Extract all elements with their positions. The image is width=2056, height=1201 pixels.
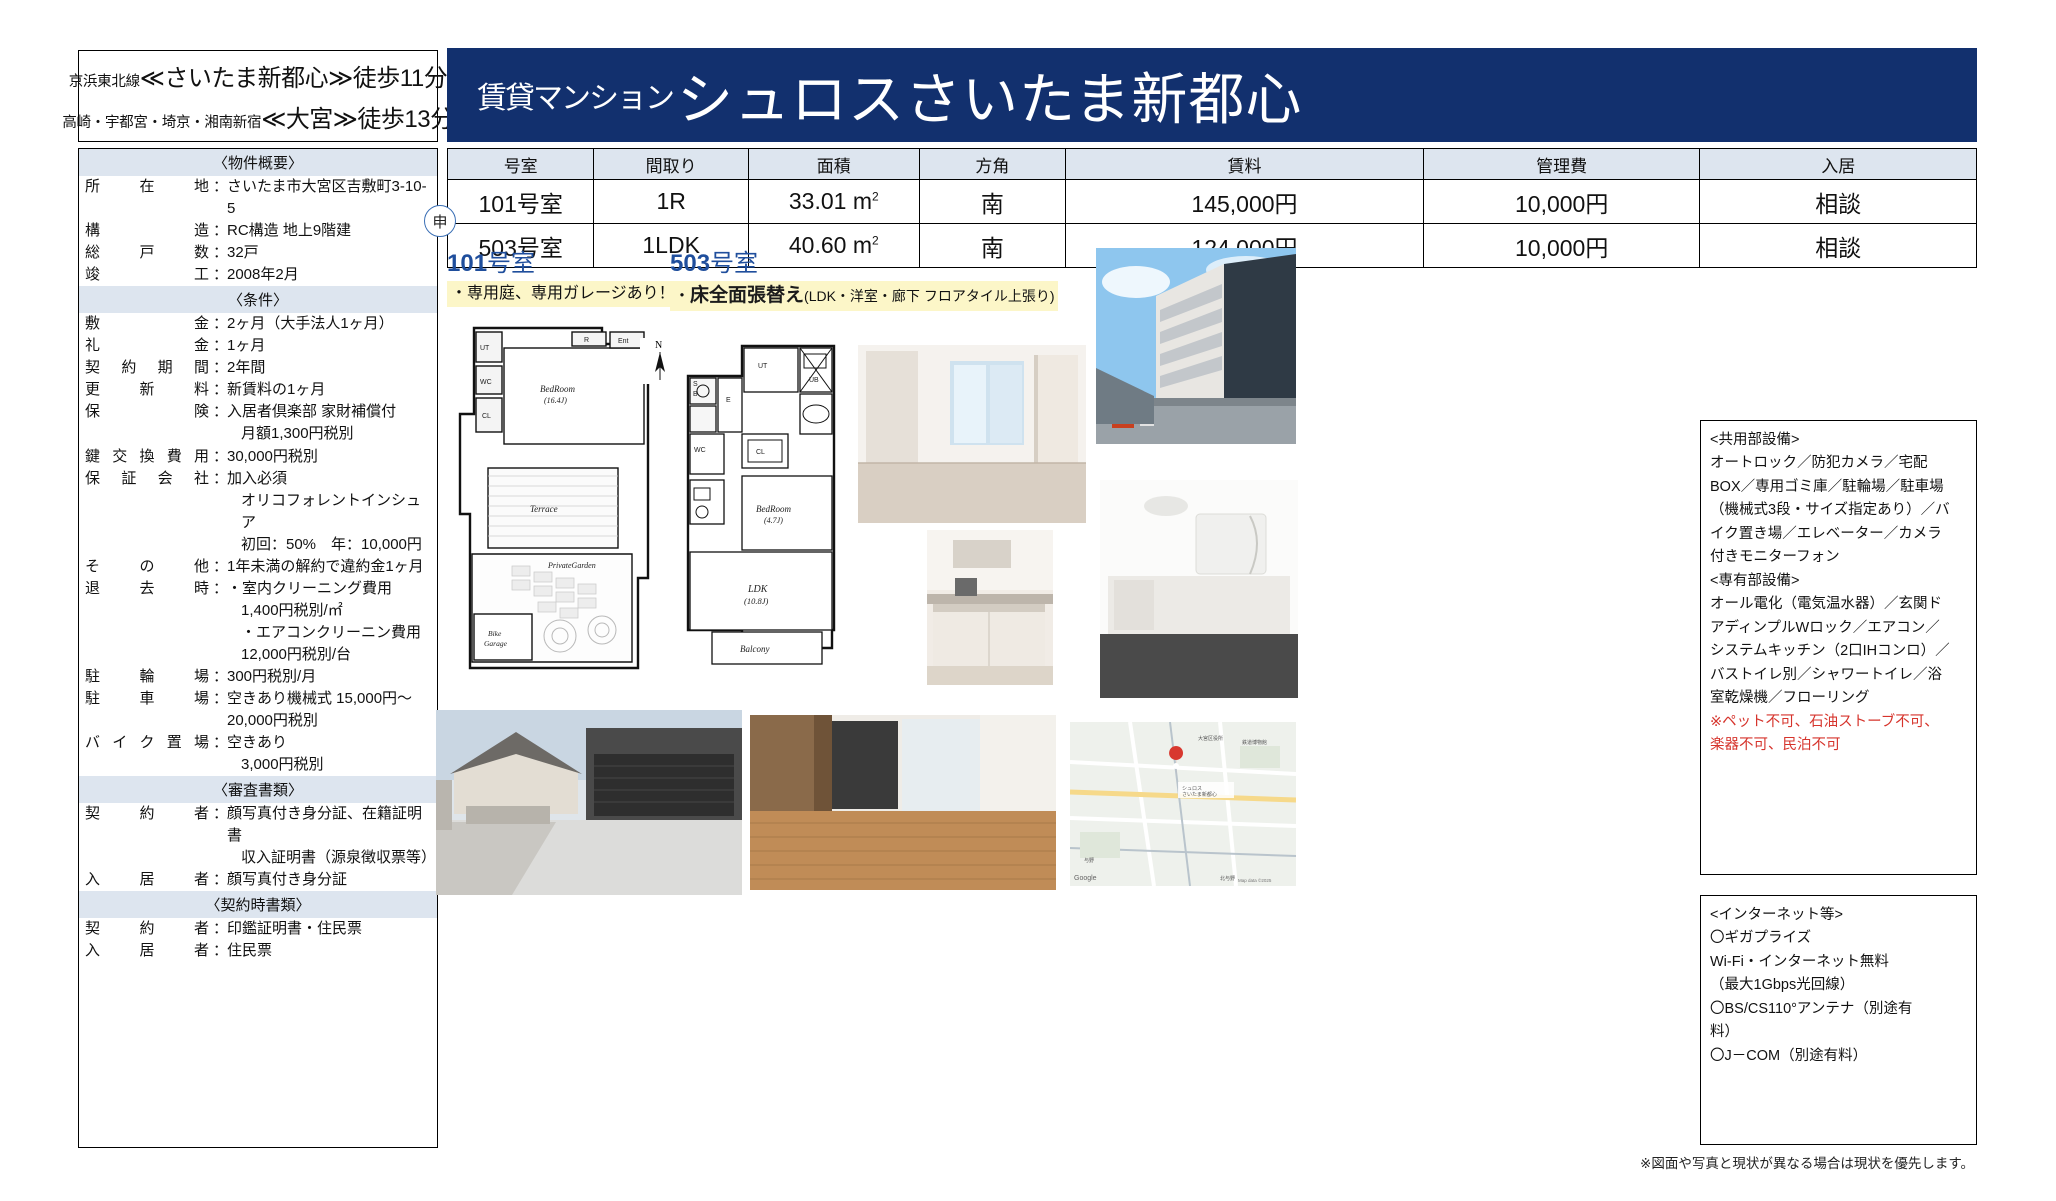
screening-label: 契約者 bbox=[85, 803, 213, 847]
table-header-3: 方角 bbox=[919, 149, 1065, 180]
svg-text:鉄道博物館: 鉄道博物館 bbox=[1242, 739, 1267, 746]
common-equipment-line: 付きモニターフォン bbox=[1710, 546, 1967, 569]
condition-colon: ： bbox=[213, 313, 227, 335]
overview-value: さいたま市大宮区吉敷町3-10-5 bbox=[227, 176, 431, 220]
callout-101-note: ・専用庭、専用ガレージあり！ bbox=[447, 281, 679, 307]
screening-value: 顔写真付き身分証 bbox=[227, 869, 431, 891]
condition-row: 駐車場：空きあり機械式 15,000円〜20,000円税別 bbox=[79, 688, 437, 732]
callout-101: 101号室 ・専用庭、専用ガレージあり！ bbox=[447, 243, 679, 307]
condition-colon: ： bbox=[213, 335, 227, 357]
overview-colon: ： bbox=[213, 242, 227, 264]
condition-value: ・エアコンクリーニン費用 bbox=[227, 622, 431, 644]
condition-label: 保険 bbox=[85, 401, 213, 423]
screening-colon: ： bbox=[213, 869, 227, 891]
restriction-line: ※ペット不可、石油ストーブ不可、 bbox=[1710, 711, 1967, 734]
condition-value: 2年間 bbox=[227, 357, 431, 379]
internet-line: 〇BS/CS110°アンテナ（別途有 bbox=[1710, 998, 1967, 1021]
compass-rose-icon: N bbox=[640, 338, 680, 384]
condition-row: 礼金：1ヶ月 bbox=[79, 335, 437, 357]
private-equipment-line: システムキッチン（2口IHコンロ）／ bbox=[1710, 640, 1967, 663]
table-header-5: 管理費 bbox=[1423, 149, 1700, 180]
condition-row: ：初回：50% 年：10,000円 bbox=[79, 534, 437, 556]
callout-503-title: 503号室 bbox=[670, 243, 1058, 278]
contract-doc-colon: ： bbox=[213, 918, 227, 940]
condition-label: 契約期間 bbox=[85, 357, 213, 379]
condition-label: 鍵交換費用 bbox=[85, 446, 213, 468]
photo-garage-exterior bbox=[436, 710, 742, 895]
flyer-page: 京浜東北線 ≪さいたま新都心≫徒歩11分 高崎・宇都宮・埼京・湘南新宿 ≪大宮≫… bbox=[0, 0, 2056, 1201]
condition-row: 更新料：新賃料の1ヶ月 bbox=[79, 379, 437, 401]
contract-doc-row: 入居者：住民票 bbox=[79, 940, 437, 962]
svg-text:Terrace: Terrace bbox=[530, 504, 558, 514]
svg-text:CL: CL bbox=[756, 449, 765, 456]
contract-doc-label: 契約者 bbox=[85, 918, 213, 940]
access-line-1-station: ≪さいたま新都心≫徒歩11分 bbox=[140, 58, 447, 93]
condition-label: 敷金 bbox=[85, 313, 213, 335]
private-equipment-line: アディンプルWロック／エアコン／ bbox=[1710, 617, 1967, 640]
cell-direction: 南 bbox=[919, 180, 1065, 224]
internet-line: （最大1Gbps光回線） bbox=[1710, 974, 1967, 997]
svg-text:WC: WC bbox=[480, 379, 492, 386]
application-flag-badge: 申 bbox=[424, 205, 456, 237]
internet-lines: 〇ギガプライズWi-Fi・インターネット無料（最大1Gbps光回線）〇BS/CS… bbox=[1710, 927, 1967, 1068]
condition-colon: ： bbox=[213, 666, 227, 688]
callout-503-number: 503 bbox=[670, 250, 710, 277]
condition-value: 空きあり bbox=[227, 732, 431, 754]
callout-503-suffix: 号室 bbox=[710, 250, 758, 277]
photo-building-exterior bbox=[1096, 248, 1296, 444]
condition-value: 月額1,300円税別 bbox=[227, 423, 431, 445]
condition-row: その他：1年未満の解約で違約金1ヶ月 bbox=[79, 556, 437, 578]
contract-doc-label: 入居者 bbox=[85, 940, 213, 962]
internet-line: 料） bbox=[1710, 1021, 1967, 1044]
table-header-2: 面積 bbox=[748, 149, 919, 180]
condition-label: 保証会社 bbox=[85, 468, 213, 490]
overview-value: RC構造 地上9階建 bbox=[227, 220, 431, 242]
condition-value: 加入必須 bbox=[227, 468, 431, 490]
condition-value: 初回：50% 年：10,000円 bbox=[227, 534, 431, 556]
callout-101-title: 101号室 bbox=[447, 243, 679, 278]
contract-doc-colon: ： bbox=[213, 940, 227, 962]
screening-label: 入居者 bbox=[85, 869, 213, 891]
table-header-row: 号室間取り面積方角賃料管理費入居 bbox=[448, 149, 1977, 180]
location-map[interactable]: 大宮区役所 鉄道博物館 シュロス さいたま新都心 与野 北与野 Google M… bbox=[1070, 722, 1296, 886]
svg-text:R: R bbox=[584, 337, 589, 344]
title-prefix: 賃貸マンション bbox=[477, 73, 673, 117]
screening-row: 入居者：顔写真付き身分証 bbox=[79, 869, 437, 891]
condition-row: 契約期間：2年間 bbox=[79, 357, 437, 379]
callout-503: 503号室 ・床全面張替え(LDK・洋室・廊下 フロアタイル上張り) bbox=[670, 243, 1058, 311]
condition-value: 12,000円税別/台 bbox=[227, 644, 431, 666]
common-equipment-line: BOX／専用ゴミ庫／駐輪場／駐車場 bbox=[1710, 476, 1967, 499]
svg-text:Garage: Garage bbox=[484, 639, 508, 648]
svg-text:大宮区役所: 大宮区役所 bbox=[1198, 735, 1223, 742]
private-equipment-heading: <専有部設備> bbox=[1710, 570, 1967, 593]
access-line-1: 京浜東北線 ≪さいたま新都心≫徒歩11分 bbox=[91, 58, 425, 93]
cell-layout: 1R bbox=[594, 180, 749, 224]
internet-line: Wi-Fi・インターネット無料 bbox=[1710, 951, 1967, 974]
condition-row: ：月額1,300円税別 bbox=[79, 423, 437, 445]
condition-label: バイク置場 bbox=[85, 732, 213, 754]
cell-area: 33.01 m2 bbox=[748, 180, 919, 224]
condition-colon: ： bbox=[213, 379, 227, 401]
condition-value: 空きあり機械式 15,000円〜20,000円税別 bbox=[227, 688, 431, 732]
condition-value: 3,000円税別 bbox=[227, 754, 431, 776]
condition-colon: ： bbox=[213, 357, 227, 379]
overview-rows: 所在地：さいたま市大宮区吉敷町3-10-5構造：RC構造 地上9階建総戸数：32… bbox=[79, 176, 437, 286]
svg-text:BedRoom: BedRoom bbox=[756, 504, 791, 514]
callout-503-note-small: (LDK・洋室・廊下 フロアタイル上張り) bbox=[804, 288, 1054, 304]
contract-docs-heading: 〈契約時書類〉 bbox=[79, 891, 437, 918]
equipment-info-box: <共用部設備> オートロック／防犯カメラ／宅配BOX／専用ゴミ庫／駐輪場／駐車場… bbox=[1700, 420, 1977, 875]
internet-heading: <インターネット等> bbox=[1710, 904, 1967, 927]
condition-colon: ： bbox=[213, 688, 227, 732]
overview-value: 2008年2月 bbox=[227, 264, 431, 286]
condition-label: 更新料 bbox=[85, 379, 213, 401]
callout-503-note: ・床全面張替え(LDK・洋室・廊下 フロアタイル上張り) bbox=[670, 281, 1058, 311]
screening-row: ：収入証明書（源泉徴収票等） bbox=[79, 847, 437, 869]
condition-row: 退去時：・室内クリーニング費用 bbox=[79, 578, 437, 600]
photo-kitchen bbox=[927, 530, 1053, 685]
condition-row: ：1,400円税別/㎡ bbox=[79, 600, 437, 622]
screening-row: 契約者：顔写真付き身分証、在籍証明書 bbox=[79, 803, 437, 847]
condition-label: 退去時 bbox=[85, 578, 213, 600]
overview-label: 竣工 bbox=[85, 264, 213, 286]
contract-docs-rows: 契約者：印鑑証明書・住民票入居者：住民票 bbox=[79, 918, 437, 962]
table-row[interactable]: 101号室1R33.01 m2南145,000円10,000円相談 bbox=[448, 180, 1977, 224]
cell-rent: 145,000円 bbox=[1066, 180, 1424, 224]
condition-row: 鍵交換費用：30,000円税別 bbox=[79, 446, 437, 468]
common-equipment-lines: オートロック／防犯カメラ／宅配BOX／専用ゴミ庫／駐輪場／駐車場（機械式3段・サ… bbox=[1710, 452, 1967, 569]
condition-value: オリコフォレントインシュア bbox=[227, 490, 431, 534]
conditions-heading: 〈条件〉 bbox=[79, 286, 437, 313]
common-equipment-heading: <共用部設備> bbox=[1710, 429, 1967, 452]
overview-colon: ： bbox=[213, 176, 227, 220]
overview-label: 総戸数 bbox=[85, 242, 213, 264]
overview-colon: ： bbox=[213, 264, 227, 286]
svg-text:UT: UT bbox=[758, 363, 768, 370]
svg-text:E: E bbox=[726, 397, 731, 404]
title-main: シュロスさいたま新都心 bbox=[677, 55, 1302, 136]
overview-row: 所在地：さいたま市大宮区吉敷町3-10-5 bbox=[79, 176, 437, 220]
photo-living-wood-floor bbox=[750, 715, 1056, 890]
internet-line: 〇J－COM（別途有料） bbox=[1710, 1045, 1967, 1068]
condition-label: 礼金 bbox=[85, 335, 213, 357]
condition-row: 敷金：2ヶ月（大手法人1ヶ月） bbox=[79, 313, 437, 335]
overview-row: 構造：RC構造 地上9階建 bbox=[79, 220, 437, 242]
cell-room: 101号室 bbox=[448, 180, 594, 224]
common-equipment-line: イク置き場／エレベーター／カメラ bbox=[1710, 523, 1967, 546]
private-equipment-lines: オール電化（電気温水器）／玄関ドアディンプルWロック／エアコン／システムキッチン… bbox=[1710, 593, 1967, 710]
contract-doc-value: 印鑑証明書・住民票 bbox=[227, 918, 431, 940]
svg-text:(4.7J): (4.7J) bbox=[764, 516, 783, 525]
condition-value: ・室内クリーニング費用 bbox=[227, 578, 431, 600]
screening-heading: 〈審査書類〉 bbox=[79, 776, 437, 803]
condition-colon: ： bbox=[213, 732, 227, 754]
cell-move_in: 相談 bbox=[1700, 224, 1977, 268]
svg-text:UT: UT bbox=[480, 345, 490, 352]
overview-row: 総戸数：32戸 bbox=[79, 242, 437, 264]
internet-info-box: <インターネット等> 〇ギガプライズWi-Fi・インターネット無料（最大1Gbp… bbox=[1700, 895, 1977, 1145]
condition-colon: ： bbox=[213, 578, 227, 600]
condition-value: 1,400円税別/㎡ bbox=[227, 600, 431, 622]
condition-value: 新賃料の1ヶ月 bbox=[227, 379, 431, 401]
callout-101-suffix: 号室 bbox=[487, 250, 535, 277]
access-line-1-railway: 京浜東北線 bbox=[69, 70, 140, 91]
contract-doc-value: 住民票 bbox=[227, 940, 431, 962]
condition-row: 駐輪場：300円税別/月 bbox=[79, 666, 437, 688]
svg-text:LDK: LDK bbox=[747, 584, 769, 595]
table-header-6: 入居 bbox=[1700, 149, 1977, 180]
overview-label: 所在地 bbox=[85, 176, 213, 220]
condition-row: 保証会社：加入必須 bbox=[79, 468, 437, 490]
table-header-0: 号室 bbox=[448, 149, 594, 180]
svg-text:B: B bbox=[693, 391, 698, 398]
screening-value: 収入証明書（源泉徴収票等） bbox=[227, 847, 431, 869]
overview-label: 構造 bbox=[85, 220, 213, 242]
overview-heading: 〈物件概要〉 bbox=[79, 149, 437, 176]
svg-text:与野: 与野 bbox=[1084, 857, 1094, 864]
svg-text:BedRoom: BedRoom bbox=[540, 384, 575, 394]
table-header-4: 賃料 bbox=[1066, 149, 1424, 180]
access-info-box: 京浜東北線 ≪さいたま新都心≫徒歩11分 高崎・宇都宮・埼京・湘南新宿 ≪大宮≫… bbox=[78, 50, 438, 142]
condition-colon: ： bbox=[213, 446, 227, 468]
photo-living-room bbox=[858, 345, 1086, 523]
condition-value: 1年未満の解約で違約金1ヶ月 bbox=[227, 556, 431, 578]
private-equipment-line: オール電化（電気温水器）／玄関ド bbox=[1710, 593, 1967, 616]
common-equipment-line: オートロック／防犯カメラ／宅配 bbox=[1710, 452, 1967, 475]
screening-colon: ： bbox=[213, 803, 227, 847]
svg-text:S: S bbox=[693, 381, 698, 388]
conditions-rows: 敷金：2ヶ月（大手法人1ヶ月）礼金：1ヶ月契約期間：2年間更新料：新賃料の1ヶ月… bbox=[79, 313, 437, 776]
property-title-band: 賃貸マンション シュロスさいたま新都心 bbox=[447, 48, 1977, 142]
condition-value: 300円税別/月 bbox=[227, 666, 431, 688]
private-equipment-line: 室乾燥機／フローリング bbox=[1710, 687, 1967, 710]
svg-text:WC: WC bbox=[694, 447, 706, 454]
condition-value: 30,000円税別 bbox=[227, 446, 431, 468]
svg-text:(10.8J): (10.8J) bbox=[744, 596, 768, 606]
restriction-line: 楽器不可、民泊不可 bbox=[1710, 734, 1967, 757]
condition-row: ：オリコフォレントインシュア bbox=[79, 490, 437, 534]
condition-colon: ： bbox=[213, 401, 227, 423]
access-line-2-railway: 高崎・宇都宮・埼京・湘南新宿 bbox=[62, 111, 261, 132]
callout-503-prefix: ・ bbox=[674, 288, 690, 305]
svg-text:CL: CL bbox=[482, 413, 491, 420]
common-equipment-line: （機械式3段・サイズ指定あり）／バ bbox=[1710, 499, 1967, 522]
access-line-2: 高崎・宇都宮・埼京・湘南新宿 ≪大宮≫徒歩13分 bbox=[91, 99, 425, 134]
callout-101-number: 101 bbox=[447, 250, 487, 277]
svg-text:Ent: Ent bbox=[618, 338, 629, 345]
disclaimer-footnote: ※図面や写真と現状が異なる場合は現状を優先します。 bbox=[1640, 1152, 1974, 1172]
property-details-panel: 〈物件概要〉 所在地：さいたま市大宮区吉敷町3-10-5構造：RC構造 地上9階… bbox=[78, 148, 438, 1148]
svg-text:Balcony: Balcony bbox=[740, 644, 770, 654]
private-equipment-line: バストイレ別／シャワートイレ／浴 bbox=[1710, 664, 1967, 687]
condition-row: バイク置場：空きあり bbox=[79, 732, 437, 754]
condition-label: 駐車場 bbox=[85, 688, 213, 732]
condition-row: ：12,000円税別/台 bbox=[79, 644, 437, 666]
photo-bathroom bbox=[1100, 480, 1298, 698]
svg-text:Map data ©2025: Map data ©2025 bbox=[1238, 877, 1272, 883]
condition-value: 2ヶ月（大手法人1ヶ月） bbox=[227, 313, 431, 335]
condition-value: 1ヶ月 bbox=[227, 335, 431, 357]
condition-row: 保険：入居者倶楽部 家財補償付 bbox=[79, 401, 437, 423]
overview-colon: ： bbox=[213, 220, 227, 242]
restriction-warning-lines: ※ペット不可、石油ストーブ不可、楽器不可、民泊不可 bbox=[1710, 711, 1967, 758]
contract-doc-row: 契約者：印鑑証明書・住民票 bbox=[79, 918, 437, 940]
condition-colon: ： bbox=[213, 468, 227, 490]
svg-text:N: N bbox=[655, 340, 662, 351]
condition-row: ：・エアコンクリーニン費用 bbox=[79, 622, 437, 644]
cell-fee: 10,000円 bbox=[1423, 224, 1700, 268]
condition-label: その他 bbox=[85, 556, 213, 578]
screening-rows: 契約者：顔写真付き身分証、在籍証明書 ：収入証明書（源泉徴収票等）入居者：顔写真… bbox=[79, 803, 437, 891]
cell-fee: 10,000円 bbox=[1423, 180, 1700, 224]
svg-text:Google: Google bbox=[1074, 875, 1097, 882]
svg-text:PrivateGarden: PrivateGarden bbox=[547, 561, 596, 570]
condition-label: 駐輪場 bbox=[85, 666, 213, 688]
cell-move_in: 相談 bbox=[1700, 180, 1977, 224]
condition-value: 入居者倶楽部 家財補償付 bbox=[227, 401, 431, 423]
internet-line: 〇ギガプライズ bbox=[1710, 927, 1967, 950]
overview-row: 竣工：2008年2月 bbox=[79, 264, 437, 286]
svg-text:Bike: Bike bbox=[488, 629, 502, 638]
svg-text:さいたま新都心: さいたま新都心 bbox=[1182, 791, 1217, 798]
svg-text:北与野: 北与野 bbox=[1220, 875, 1235, 882]
overview-value: 32戸 bbox=[227, 242, 431, 264]
condition-colon: ： bbox=[213, 556, 227, 578]
svg-text:(16.4J): (16.4J) bbox=[544, 396, 567, 405]
table-header-1: 間取り bbox=[594, 149, 749, 180]
screening-value: 顔写真付き身分証、在籍証明書 bbox=[227, 803, 431, 847]
condition-row: ：3,000円税別 bbox=[79, 754, 437, 776]
svg-text:UB: UB bbox=[809, 377, 819, 384]
access-line-2-station: ≪大宮≫徒歩13分 bbox=[261, 99, 453, 134]
callout-503-note-bold: 床全面張替え bbox=[690, 285, 804, 306]
